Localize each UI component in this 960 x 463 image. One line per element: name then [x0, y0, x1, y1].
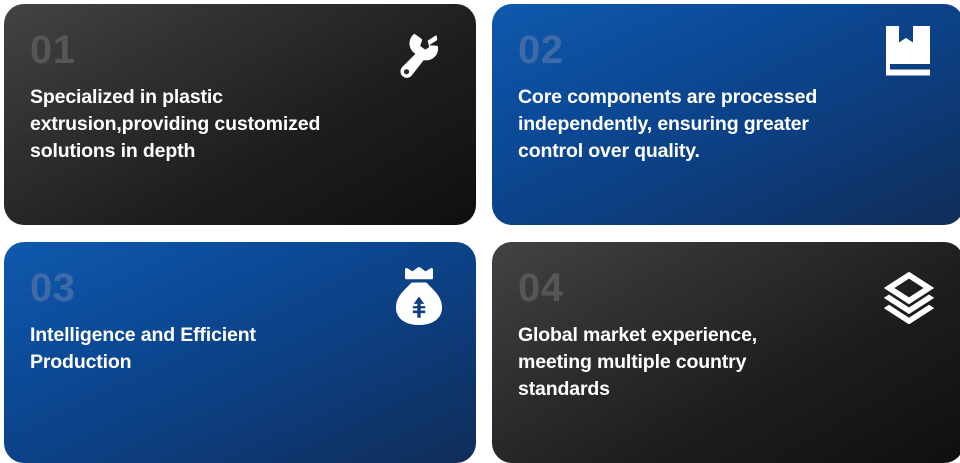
wrench-icon [390, 26, 448, 84]
card-number: 03 [30, 268, 450, 308]
feature-card-04[interactable]: 04 Global market experience, meeting mul… [492, 242, 960, 463]
feature-card-02[interactable]: 02 Core components are processed indepen… [492, 4, 960, 225]
feature-card-grid: 01 Specialized in plastic extrusion,prov… [0, 0, 960, 459]
feature-card-01[interactable]: 01 Specialized in plastic extrusion,prov… [4, 4, 476, 225]
card-title: Specialized in plastic extrusion,providi… [30, 84, 450, 165]
card-title: Core components are processed independen… [518, 84, 938, 165]
card-title: Global market experience, meeting multip… [518, 322, 938, 403]
card-title: Intelligence and Efficient Production [30, 322, 450, 376]
feature-card-03[interactable]: 03 Intelligence and Efficient Production [4, 242, 476, 463]
card-number: 02 [518, 30, 938, 70]
money-bag-yen-icon [390, 268, 448, 326]
card-number: 04 [518, 268, 938, 308]
layers-stack-icon [880, 268, 938, 326]
card-number: 01 [30, 30, 450, 70]
book-bookmark-icon [882, 26, 934, 78]
